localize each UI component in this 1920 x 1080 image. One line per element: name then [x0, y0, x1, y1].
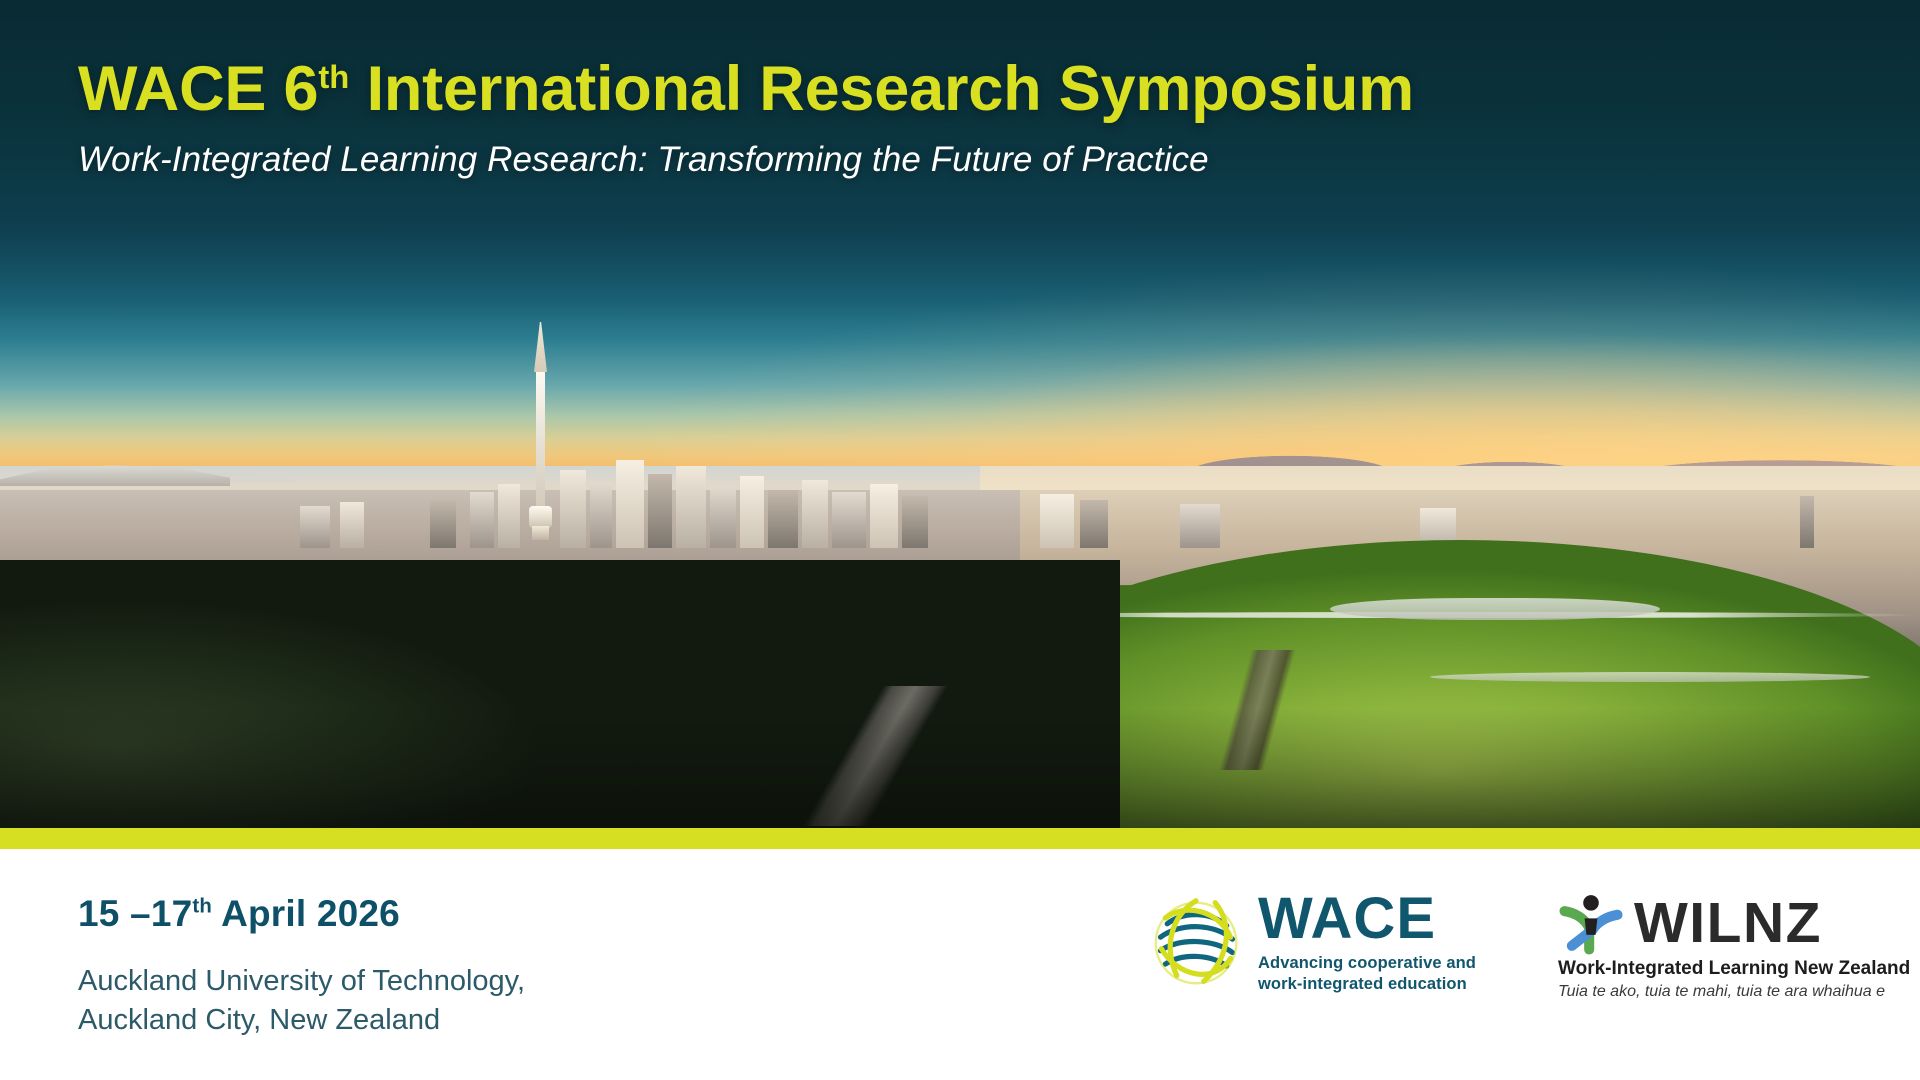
- date-range: 15 –17: [78, 893, 192, 934]
- harbour-bridge: [0, 464, 230, 486]
- building: [802, 480, 828, 548]
- building: [710, 486, 736, 548]
- conference-banner: WACE 6th International Research Symposiu…: [0, 0, 1920, 1080]
- event-venue: Auckland University of Technology, Auckl…: [78, 962, 525, 1039]
- crater-lower-path: [1430, 672, 1870, 682]
- building: [902, 496, 928, 548]
- building: [430, 500, 456, 548]
- sky-tower-pod: [529, 506, 552, 528]
- building: [560, 470, 586, 548]
- building: [590, 482, 612, 548]
- sky-tower: [536, 370, 545, 520]
- building: [740, 476, 764, 548]
- wilnz-person-icon: [1558, 891, 1624, 955]
- page-title: WACE 6th International Research Symposiu…: [78, 56, 1414, 123]
- wilnz-top-row: WILNZ: [1558, 891, 1910, 955]
- page-subtitle: Work-Integrated Learning Research: Trans…: [78, 140, 1414, 180]
- title-ordinal-suffix: th: [318, 58, 349, 95]
- building: [470, 492, 494, 548]
- building: [616, 460, 644, 548]
- building: [300, 506, 330, 548]
- venue-line-2: Auckland City, New Zealand: [78, 1001, 525, 1040]
- building: [768, 490, 798, 548]
- event-date: 15 –17th April 2026: [78, 893, 400, 935]
- wace-tagline-line-2: work-integrated education: [1258, 974, 1476, 995]
- wace-logo: WACE Advancing cooperative and work-inte…: [1148, 891, 1476, 996]
- building: [648, 474, 672, 548]
- photo-vignette: [0, 708, 1920, 828]
- building: [676, 466, 706, 548]
- wace-globe-icon: [1148, 895, 1244, 991]
- title-text-before: WACE 6: [78, 54, 318, 124]
- building: [870, 484, 898, 548]
- venue-line-1: Auckland University of Technology,: [78, 962, 525, 1001]
- wilnz-maori-tagline: Tuia te ako, tuia te mahi, tuia te ara w…: [1558, 983, 1910, 1001]
- wace-tagline-line-1: Advancing cooperative and: [1258, 953, 1476, 974]
- wilnz-logo: WILNZ Work-Integrated Learning New Zeala…: [1558, 891, 1910, 1001]
- crane: [1800, 496, 1814, 548]
- building: [1040, 494, 1074, 548]
- headline-block: WACE 6th International Research Symposiu…: [78, 56, 1414, 180]
- building: [498, 484, 520, 548]
- hero-photo: WACE 6th International Research Symposiu…: [0, 0, 1920, 828]
- building: [1080, 500, 1108, 548]
- wace-wordmark: WACE: [1258, 891, 1476, 947]
- wilnz-wordmark: WILNZ: [1634, 895, 1822, 952]
- building: [832, 492, 866, 548]
- title-text-after: International Research Symposium: [349, 54, 1414, 124]
- building: [340, 502, 364, 548]
- date-month-year: April 2026: [212, 893, 400, 934]
- building: [1180, 504, 1220, 548]
- sky-tower-pod-lower: [532, 526, 549, 540]
- footer-bar: 15 –17th April 2026 Auckland University …: [0, 849, 1920, 1080]
- wilnz-subtitle: Work-Integrated Learning New Zealand: [1558, 958, 1910, 980]
- wace-tagline: Advancing cooperative and work-integrate…: [1258, 953, 1476, 996]
- wace-text-block: WACE Advancing cooperative and work-inte…: [1258, 891, 1476, 996]
- accent-divider-bar: [0, 828, 1920, 849]
- date-ordinal-suffix: th: [192, 896, 212, 918]
- crater-lookout-platform: [1330, 598, 1660, 620]
